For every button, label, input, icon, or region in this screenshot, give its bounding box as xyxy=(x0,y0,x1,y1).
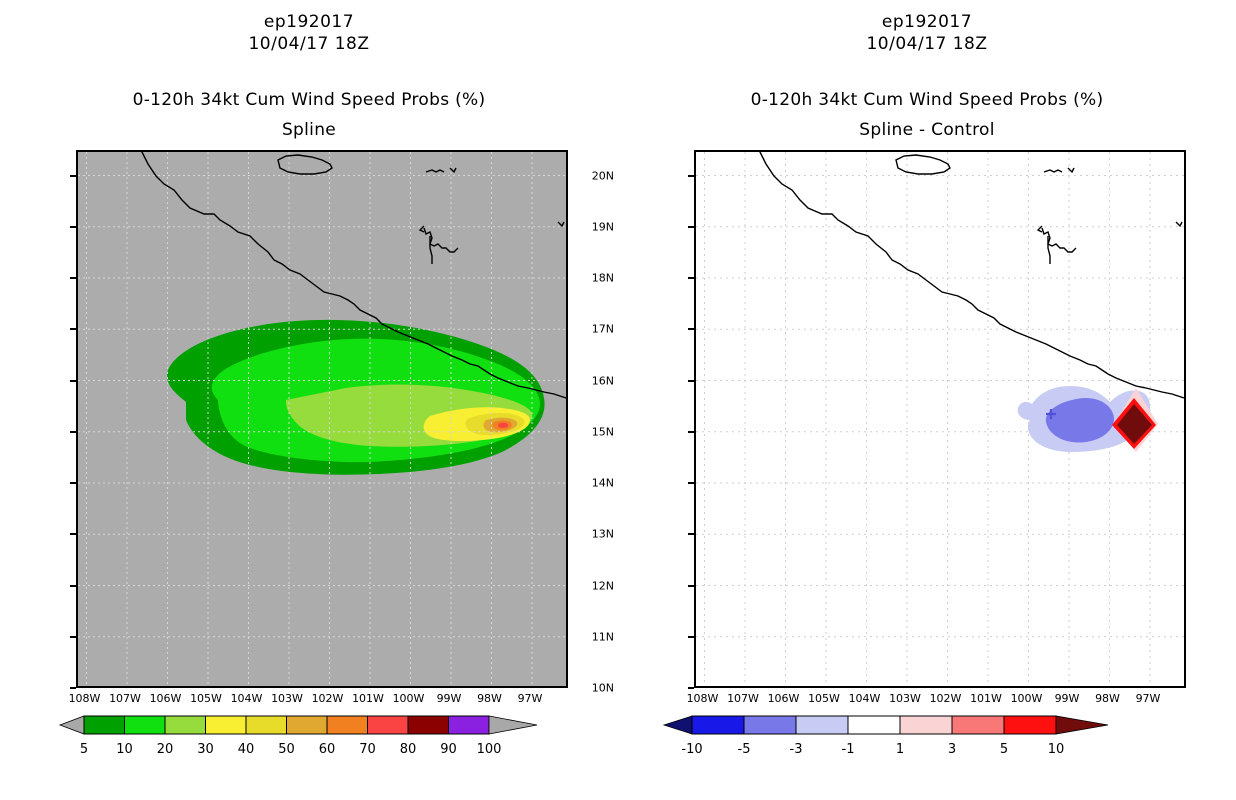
colorbar-swatches xyxy=(0,712,618,746)
colorbar-tick-label: 10 xyxy=(116,742,133,757)
colorbar-tick-label: 5 xyxy=(80,742,88,757)
y-tick-label: 11N xyxy=(592,630,614,643)
x-tick-label: 97W xyxy=(1136,692,1161,705)
y-tick-label: 15N xyxy=(592,425,614,438)
y-tick-label: 14N xyxy=(592,477,614,490)
map-plot-difference[interactable] xyxy=(694,150,1186,688)
colorbar-tick-label: 5 xyxy=(1000,742,1008,757)
colorbar-tick-label: 90 xyxy=(440,742,457,757)
x-tick-label: 101W xyxy=(970,692,1002,705)
y-tick-label: 18N xyxy=(592,272,614,285)
x-tick-label: 101W xyxy=(352,692,384,705)
colorbar-tick-label: -5 xyxy=(738,742,751,757)
y-tick-label: 17N xyxy=(592,323,614,336)
storm-id-right: ep192017 xyxy=(618,12,1236,32)
x-tick-label: 102W xyxy=(930,692,962,705)
y-tick-label: 19N xyxy=(592,220,614,233)
colorbar-tick-label: 1 xyxy=(896,742,904,757)
x-tick-label: 106W xyxy=(150,692,182,705)
valid-time-left: 10/04/17 18Z xyxy=(0,34,618,54)
x-tick-label: 98W xyxy=(1095,692,1120,705)
map-plot-spline[interactable] xyxy=(76,150,568,688)
colorbar-tick-label: 30 xyxy=(197,742,214,757)
valid-time-right: 10/04/17 18Z xyxy=(618,34,1236,54)
chart-title-right: 0-120h 34kt Cum Wind Speed Probs (%) xyxy=(618,90,1236,110)
x-tick-label: 100W xyxy=(1011,692,1043,705)
x-tick-label: 99W xyxy=(437,692,462,705)
x-tick-label: 97W xyxy=(518,692,543,705)
x-tick-label: 106W xyxy=(768,692,800,705)
x-tick-label: 100W xyxy=(393,692,425,705)
colorbar-tick-label: -1 xyxy=(842,742,855,757)
colorbar-tick-label: 50 xyxy=(278,742,295,757)
x-tick-label: 108W xyxy=(687,692,719,705)
y-tick-label: 20N xyxy=(592,169,614,182)
x-tick-label: 105W xyxy=(808,692,840,705)
colorbar-tick-label: 3 xyxy=(948,742,956,757)
x-tick-label: 108W xyxy=(69,692,101,705)
x-tick-label: 107W xyxy=(727,692,759,705)
difference-contours xyxy=(1018,386,1158,452)
colorbar-tick-label: 60 xyxy=(319,742,336,757)
colorbar-tick-label: 40 xyxy=(238,742,255,757)
x-tick-label: 104W xyxy=(849,692,881,705)
x-tick-label: 107W xyxy=(109,692,141,705)
colorbar-tick-label: -10 xyxy=(681,742,702,757)
colorbar-tick-label: 70 xyxy=(359,742,376,757)
colorbar-tick-label: -3 xyxy=(790,742,803,757)
colorbar-tick-label: 100 xyxy=(477,742,502,757)
x-tick-label: 103W xyxy=(271,692,303,705)
colorbar-right[interactable]: -10 -5 -3 -1 1 3 5 10 xyxy=(618,712,1236,772)
y-tick-label: 12N xyxy=(592,579,614,592)
storm-id-left: ep192017 xyxy=(0,12,618,32)
chart-subtitle-right: Spline - Control xyxy=(618,120,1236,140)
colorbar-tick-label: 20 xyxy=(157,742,174,757)
x-tick-label: 105W xyxy=(190,692,222,705)
colorbar-tick-label: 10 xyxy=(1048,742,1065,757)
x-tick-label: 102W xyxy=(312,692,344,705)
colorbar-left[interactable]: 5 10 20 30 40 50 60 70 80 90 100 xyxy=(0,712,618,772)
chart-title-left: 0-120h 34kt Cum Wind Speed Probs (%) xyxy=(0,90,618,110)
y-tick-label: 13N xyxy=(592,528,614,541)
panel-spline-minus-control: ep192017 10/04/17 18Z 0-120h 34kt Cum Wi… xyxy=(618,0,1236,800)
coastline xyxy=(758,152,1184,398)
colorbar-tick-label: 80 xyxy=(400,742,417,757)
contour-fills xyxy=(167,320,544,475)
x-tick-label: 103W xyxy=(889,692,921,705)
chart-subtitle-left: Spline xyxy=(0,120,618,140)
x-tick-label: 98W xyxy=(477,692,502,705)
x-tick-label: 99W xyxy=(1055,692,1080,705)
y-tick-label: 10N xyxy=(592,682,614,695)
y-tick-label: 16N xyxy=(592,374,614,387)
x-tick-label: 104W xyxy=(231,692,263,705)
panel-spline: ep192017 10/04/17 18Z 0-120h 34kt Cum Wi… xyxy=(0,0,618,800)
colorbar-swatches xyxy=(618,712,1236,746)
